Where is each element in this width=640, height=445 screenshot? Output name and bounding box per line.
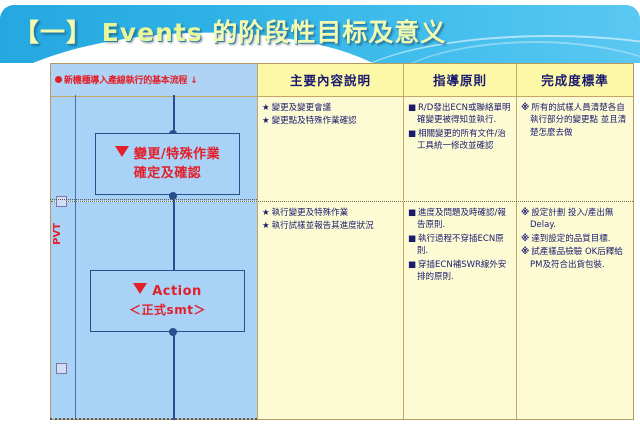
row1-flow-cell — [51, 97, 258, 201]
title-chinese: 的阶段性目标及意义 — [212, 18, 446, 47]
header-flow-label: 新機種導入產線執行的基本流程 ↓ — [64, 73, 197, 86]
list-item: ★變更及變更會議 — [262, 102, 400, 115]
list-item: ■執行過程不穿插ECN原則. — [408, 233, 513, 258]
header-cell-criteria: 完成度標準 — [517, 64, 633, 96]
list-marker-icon: ■ — [408, 103, 416, 113]
title-prefix: 【一】 — [14, 18, 92, 47]
list-marker-icon: ★ — [262, 208, 270, 218]
list-item-text: 設定計劃 投入/產出無 Delay. — [530, 208, 613, 231]
row1-principles-list: ■R/D發出ECN或聯絡單明確變更被得知並執行.■相關變更的所有文件/治工具統一… — [408, 102, 513, 153]
list-marker-icon: ※ — [521, 103, 529, 113]
row2-flow-cell — [51, 202, 258, 419]
list-marker-icon: ■ — [408, 260, 416, 270]
list-marker-icon: ※ — [521, 234, 529, 244]
row2-criteria-list: ※設定計劃 投入/產出無 Delay.※達到設定的品質目標.※試產樣品檢驗 OK… — [521, 207, 630, 272]
row2-principles-list: ■進度及問題及時確認/報告原則.■執行過程不穿插ECN原則.■穿插ECN補SWR… — [408, 207, 513, 284]
list-item-text: 試產樣品檢驗 OK后釋給PM及符合出貨包裝. — [530, 247, 623, 270]
list-marker-icon: ■ — [408, 208, 416, 218]
list-item: ★變更點及特殊作業確認 — [262, 115, 400, 128]
row1-criteria-list: ※所有的試樣人員清楚各自執行部分的變更點 並且清楚怎麼去做 — [521, 102, 630, 140]
list-marker-icon: ※ — [521, 208, 529, 218]
list-item-text: 執行過程不穿插ECN原則. — [417, 234, 504, 257]
header-cell-principles: 指導原則 — [404, 64, 517, 96]
list-item: ■R/D發出ECN或聯絡單明確變更被得知並執行. — [408, 102, 513, 127]
row1-main-content-cell: ★變更及變更會議★變更點及特殊作業確認 — [258, 97, 404, 201]
list-item: ※設定計劃 投入/產出無 Delay. — [521, 207, 630, 232]
list-item: ※達到設定的品質目標. — [521, 233, 630, 246]
list-item: ★執行變更及特殊作業 — [262, 207, 400, 220]
row2-main-content-cell: ★執行變更及特殊作業★執行試樣並報告其進度狀況 — [258, 202, 404, 419]
flow-bottom-divider — [50, 418, 257, 420]
page-title: 【一】 Events 的阶段性目标及意义 — [14, 13, 446, 49]
list-item-text: 執行試樣並報告其進度狀況 — [272, 221, 374, 231]
slide-title-banner: 【一】 Events 的阶段性目标及意义 — [0, 5, 640, 63]
row2-main-content-list: ★執行變更及特殊作業★執行試樣並報告其進度狀況 — [262, 207, 400, 233]
list-item-text: 所有的試樣人員清楚各自執行部分的變更點 並且清楚怎麼去做 — [530, 103, 626, 138]
table-row: ★變更及變更會議★變更點及特殊作業確認 ■R/D發出ECN或聯絡單明確變更被得知… — [51, 97, 633, 202]
header-principles-label: 指導原則 — [433, 70, 487, 89]
list-item: ■進度及問題及時確認/報告原則. — [408, 207, 513, 232]
process-table: 新機種導入產線執行的基本流程 ↓ 主要內容說明 指導原則 完成度標準 ★變更及變… — [50, 63, 634, 420]
list-marker-icon: ※ — [521, 247, 529, 257]
header-main-content-label: 主要內容說明 — [290, 70, 371, 89]
row2-criteria-cell: ※設定計劃 投入/產出無 Delay.※達到設定的品質目標.※試產樣品檢驗 OK… — [517, 202, 633, 419]
table-header-row: 新機種導入產線執行的基本流程 ↓ 主要內容說明 指導原則 完成度標準 — [51, 64, 633, 97]
table-row: ★執行變更及特殊作業★執行試樣並報告其進度狀況 ■進度及問題及時確認/報告原則.… — [51, 202, 633, 419]
row1-main-content-list: ★變更及變更會議★變更點及特殊作業確認 — [262, 102, 400, 128]
list-marker-icon: ■ — [408, 129, 416, 139]
list-item: ■穿插ECN補SWR線外安排的原則. — [408, 259, 513, 284]
flow-row-divider — [50, 199, 257, 200]
list-item-text: 穿插ECN補SWR線外安排的原則. — [417, 260, 506, 283]
list-item-text: 達到設定的品質目標. — [531, 234, 610, 244]
bullet-dot-icon — [55, 76, 62, 83]
row1-criteria-cell: ※所有的試樣人員清楚各自執行部分的變更點 並且清楚怎麼去做 — [517, 97, 633, 201]
row2-principles-cell: ■進度及問題及時確認/報告原則.■執行過程不穿插ECN原則.■穿插ECN補SWR… — [404, 202, 517, 419]
header-cell-main-content: 主要內容說明 — [258, 64, 404, 96]
list-item-text: 執行變更及特殊作業 — [272, 208, 349, 218]
header-criteria-label: 完成度標準 — [541, 70, 609, 89]
list-item: ★執行試樣並報告其進度狀況 — [262, 220, 400, 233]
list-marker-icon: ★ — [262, 116, 270, 126]
list-item: ※所有的試樣人員清楚各自執行部分的變更點 並且清楚怎麼去做 — [521, 102, 630, 140]
list-item: ※試產樣品檢驗 OK后釋給PM及符合出貨包裝. — [521, 246, 630, 271]
list-item-text: R/D發出ECN或聯絡單明確變更被得知並執行. — [417, 103, 511, 126]
list-item-text: 變更及變更會議 — [272, 103, 332, 113]
header-cell-flow: 新機種導入產線執行的基本流程 ↓ — [51, 64, 258, 96]
footer-strip — [0, 423, 640, 445]
list-marker-icon: ★ — [262, 103, 270, 113]
row1-principles-cell: ■R/D發出ECN或聯絡單明確變更被得知並執行.■相關變更的所有文件/治工具統一… — [404, 97, 517, 201]
list-item-text: 相關變更的所有文件/治工具統一修改並確認 — [417, 129, 506, 152]
list-item: ■相關變更的所有文件/治工具統一修改並確認 — [408, 128, 513, 153]
list-item-text: 進度及問題及時確認/報告原則. — [417, 208, 506, 231]
title-english: Events — [102, 18, 203, 47]
list-marker-icon: ★ — [262, 221, 270, 231]
list-item-text: 變更點及特殊作業確認 — [272, 116, 357, 126]
list-marker-icon: ■ — [408, 234, 416, 244]
